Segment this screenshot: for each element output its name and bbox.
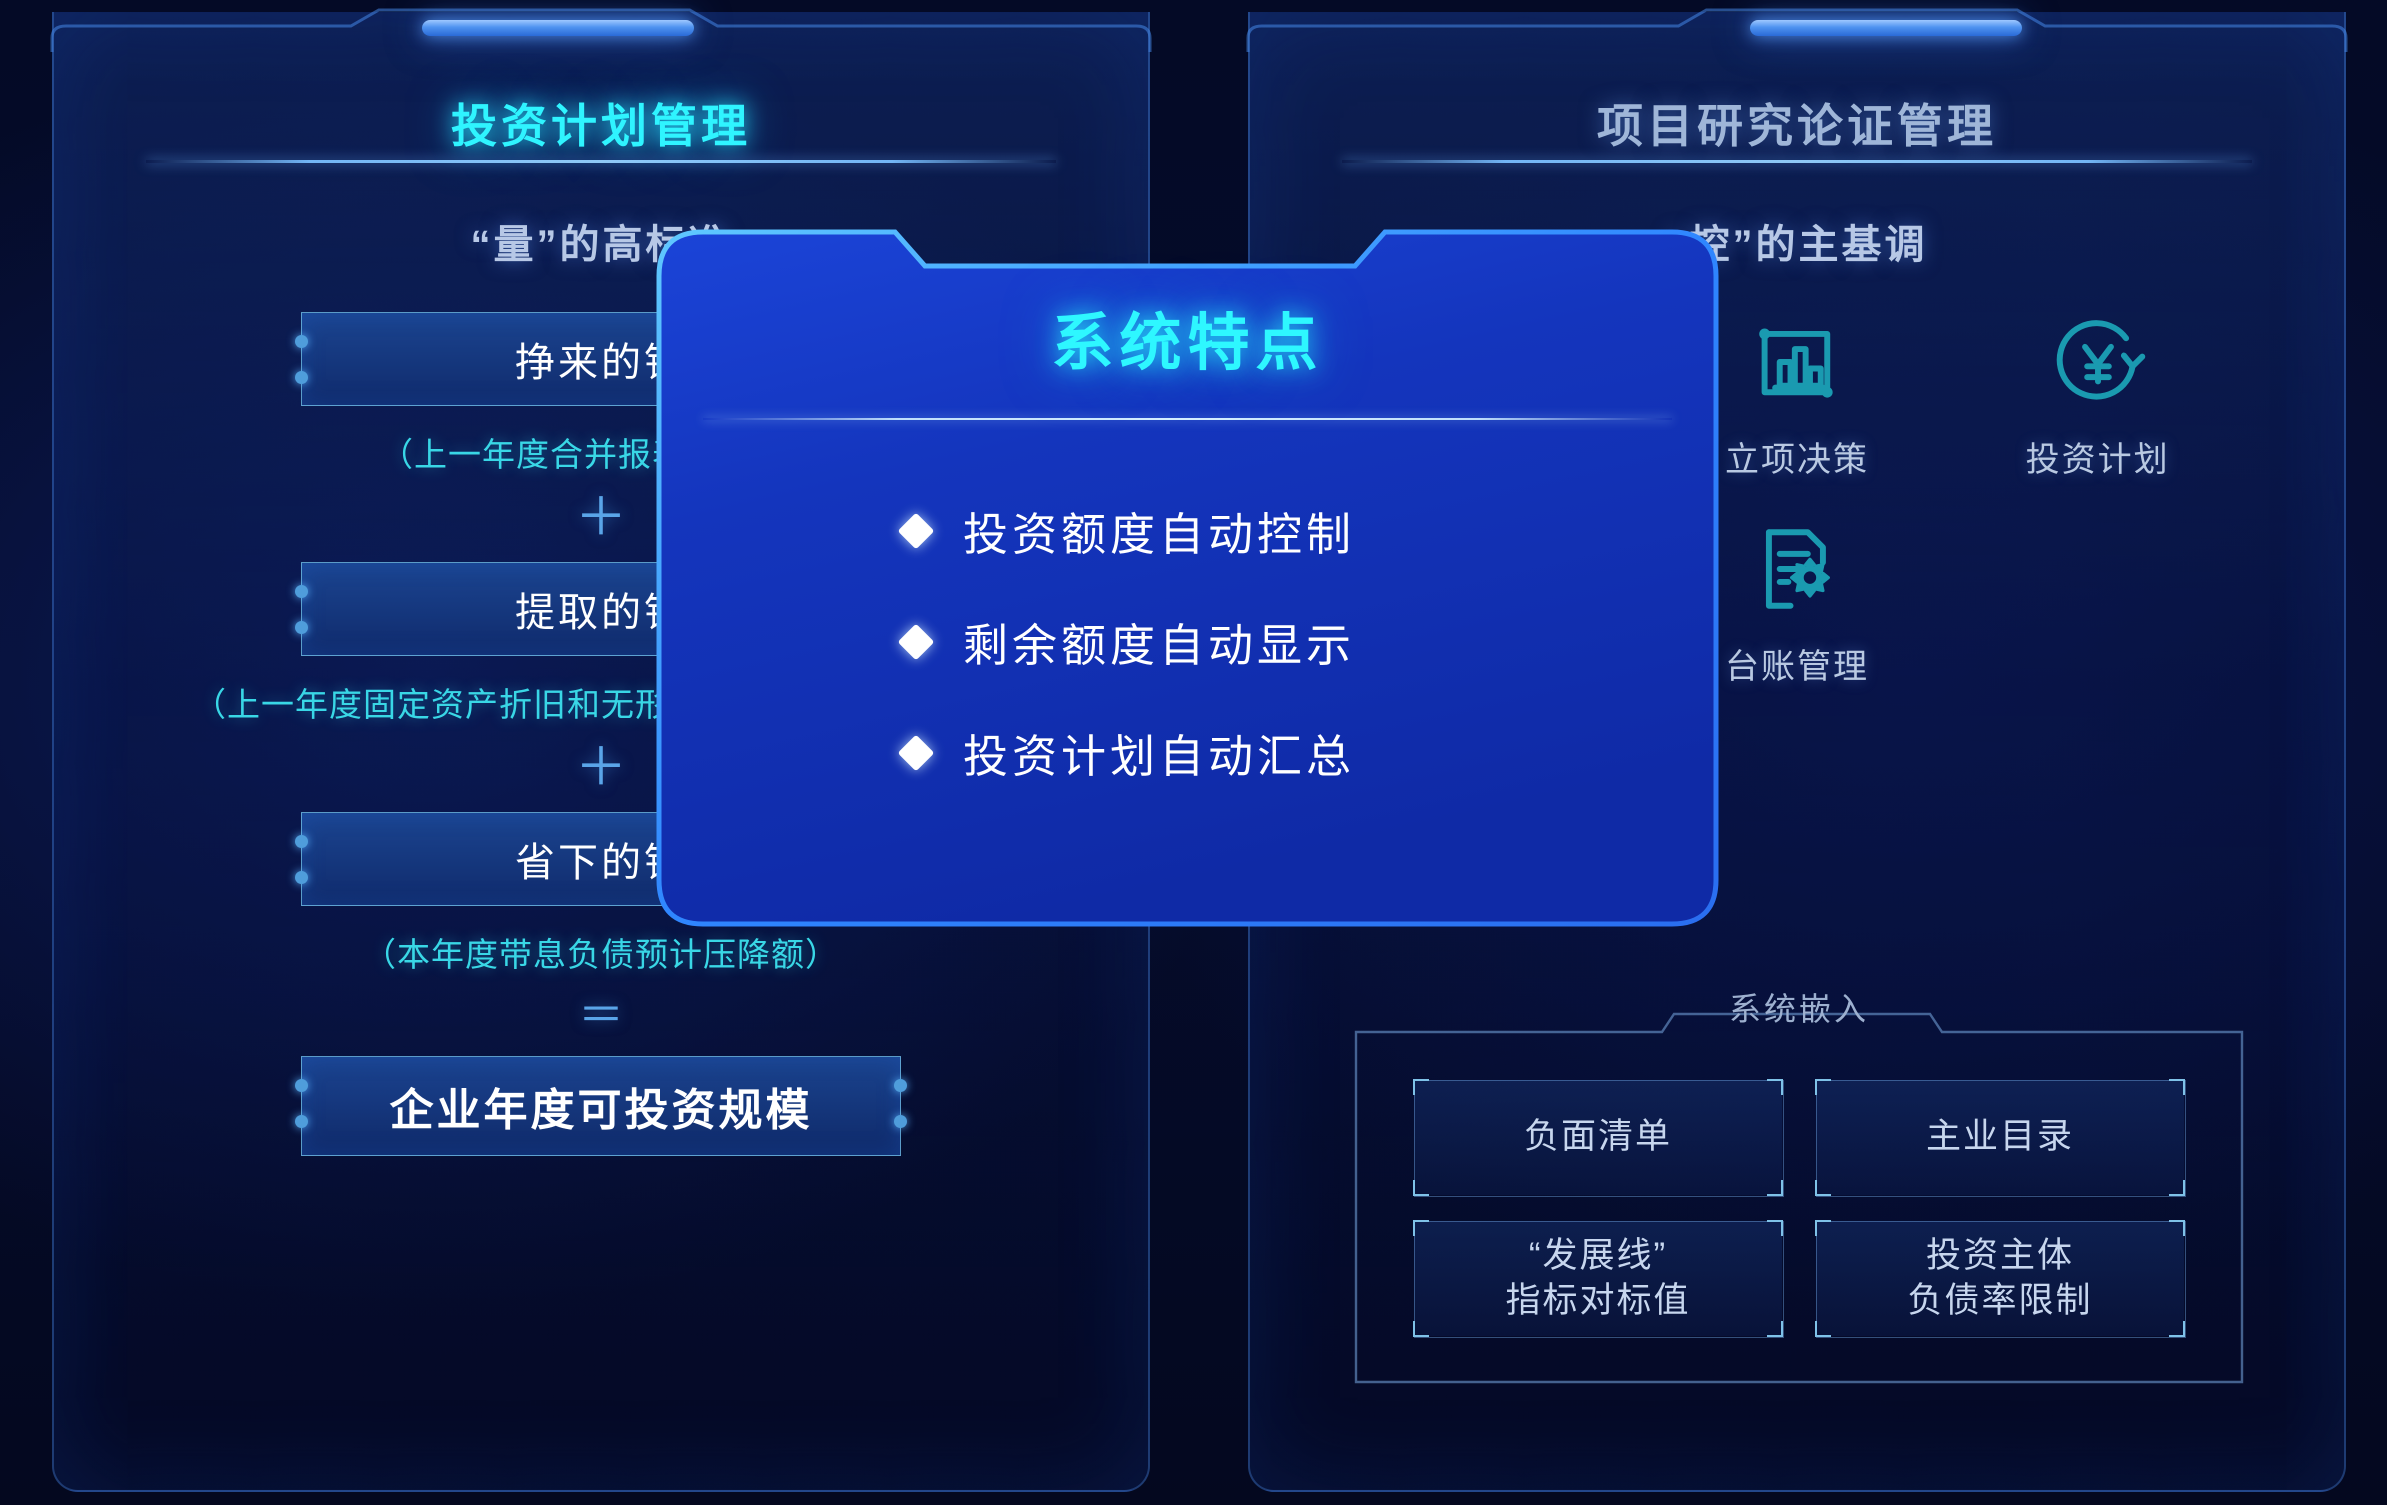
- corner-bracket: [1413, 1321, 1429, 1337]
- embed-card-main-business-catalog[interactable]: 主业目录: [1816, 1080, 2184, 1195]
- feature-list-item[interactable]: 剩余额度自动显示: [903, 609, 1720, 674]
- embed-card-label: 投资主体: [1926, 1236, 2074, 1275]
- document-gear-icon: [1743, 515, 1851, 623]
- embed-card-sublabel: 指标对标值: [1505, 1281, 1690, 1320]
- connector-dot: [295, 1115, 308, 1128]
- icon-label: 台账管理: [1725, 639, 1869, 688]
- diamond-bullet-icon: [898, 623, 935, 660]
- left-panel-title: 投资计划管理: [54, 90, 1148, 156]
- embed-card-development-line[interactable]: “发展线” 指标对标值: [1414, 1221, 1782, 1336]
- system-embed-section: 系统嵌入 负面清单 主业目录 “: [1346, 1010, 2252, 1392]
- corner-bracket: [1815, 1220, 1831, 1236]
- connector-dot: [295, 371, 308, 384]
- card-content: 系统特点 投资额度自动控制 剩余额度自动显示 投资计划自动汇总: [655, 218, 1720, 938]
- icon-cell-investment-plan[interactable]: 投资计划: [1947, 308, 2248, 481]
- corner-bracket: [1767, 1321, 1783, 1337]
- feature-list: 投资额度自动控制 剩余额度自动显示 投资计划自动汇总: [903, 498, 1720, 785]
- corner-bracket: [1767, 1180, 1783, 1196]
- connector-dot: [295, 585, 308, 598]
- corner-bracket: [1413, 1079, 1429, 1095]
- formula-result-label: 企业年度可投资规模: [390, 1074, 813, 1138]
- feature-card-divider: [703, 418, 1672, 420]
- yen-circle-icon: [2044, 308, 2152, 416]
- feature-card-title: 系统特点: [655, 292, 1720, 382]
- corner-bracket: [1767, 1079, 1783, 1095]
- corner-bracket: [1413, 1220, 1429, 1236]
- embed-card-label: “发展线”: [1529, 1236, 1667, 1275]
- corner-bracket: [1815, 1079, 1831, 1095]
- left-title-divider: [146, 160, 1056, 163]
- corner-bracket: [2169, 1079, 2185, 1095]
- panel-tab-handle: [422, 20, 694, 36]
- connector-dot: [894, 1115, 907, 1128]
- embed-card-label: 负面清单: [1524, 1117, 1672, 1156]
- right-panel-title: 项目研究论证管理: [1250, 90, 2344, 156]
- embed-card-negative-list[interactable]: 负面清单: [1414, 1080, 1782, 1195]
- connector-dot: [295, 335, 308, 348]
- corner-bracket: [1413, 1180, 1429, 1196]
- panel-tab-handle: [1750, 20, 2022, 36]
- feature-item-label: 投资额度自动控制: [963, 498, 1355, 563]
- connector-dot: [295, 871, 308, 884]
- corner-bracket: [2169, 1180, 2185, 1196]
- connector-dot: [295, 621, 308, 634]
- diamond-bullet-icon: [898, 512, 935, 549]
- corner-bracket: [1815, 1180, 1831, 1196]
- embed-card-label: 主业目录: [1926, 1117, 2074, 1156]
- corner-bracket: [2169, 1220, 2185, 1236]
- formula-operator-equals: ＝: [54, 992, 1148, 1038]
- feature-item-label: 剩余额度自动显示: [963, 609, 1355, 674]
- system-features-overlay-card[interactable]: 系统特点 投资额度自动控制 剩余额度自动显示 投资计划自动汇总: [655, 218, 1720, 938]
- embed-legend-label: 系统嵌入: [1346, 984, 2252, 1030]
- connector-dot: [295, 835, 308, 848]
- icon-label: 立项决策: [1725, 432, 1869, 481]
- formula-result-box[interactable]: 企业年度可投资规模: [301, 1056, 901, 1156]
- embed-card-grid: 负面清单 主业目录 “发展线” 指标对标值: [1414, 1080, 2184, 1336]
- diamond-bullet-icon: [898, 734, 935, 771]
- bar-chart-board-icon: [1743, 308, 1851, 416]
- feature-item-label: 投资计划自动汇总: [963, 720, 1355, 785]
- embed-card-investor-debt-limit[interactable]: 投资主体 负债率限制: [1816, 1221, 2184, 1336]
- corner-bracket: [2169, 1321, 2185, 1337]
- icon-label: 投资计划: [2026, 432, 2170, 481]
- feature-list-item[interactable]: 投资额度自动控制: [903, 498, 1720, 563]
- embed-card-sublabel: 负债率限制: [1907, 1281, 2092, 1320]
- corner-bracket: [1767, 1220, 1783, 1236]
- right-title-divider: [1342, 160, 2252, 163]
- connector-dot: [894, 1079, 907, 1092]
- connector-dot: [295, 1079, 308, 1092]
- feature-list-item[interactable]: 投资计划自动汇总: [903, 720, 1720, 785]
- corner-bracket: [1815, 1321, 1831, 1337]
